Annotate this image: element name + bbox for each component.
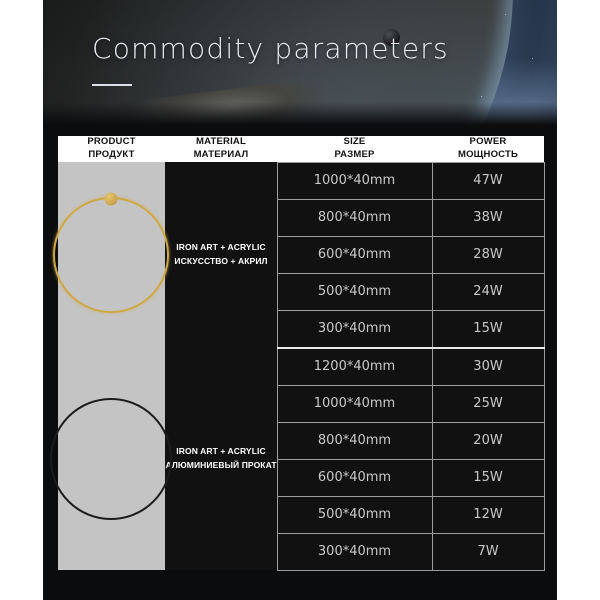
parameters-table: PRODUCT ПРОДУКТ MATERIAL МАТЕРИАЛ SIZE Р… [58,136,545,571]
product-image-black-ring [58,348,165,571]
hero-space-banner: Commodity parameters [43,0,557,128]
material-cell-1: IRON ART + ACRYLIC ИСКУССТВО + АКРИЛ [165,162,277,348]
power-cell: 30W [432,348,544,386]
table-row: IRON ART + ACRYLIC ИСКУССТВО + АКРИЛ 100… [58,162,544,199]
power-cell: 47W [432,162,544,199]
size-cell: 300*40mm [277,310,432,348]
size-cell: 1000*40mm [277,385,432,422]
power-cell: 7W [432,533,544,570]
star-icon [532,58,533,59]
size-cell: 800*40mm [277,199,432,236]
size-cell: 300*40mm [277,533,432,570]
material-cell-2: IRON ART + ACRYLIC АЛЮМИНИЕВЫЙ ПРОКАТ [165,348,277,571]
size-cell: 500*40mm [277,496,432,533]
title-underline [92,84,132,86]
header-power: POWER МОЩНОСТЬ [432,136,544,162]
header-material: MATERIAL МАТЕРИАЛ [165,136,277,162]
power-cell: 12W [432,496,544,533]
size-cell: 1000*40mm [277,162,432,199]
header-row: PRODUCT ПРОДУКТ MATERIAL МАТЕРИАЛ SIZE Р… [58,136,544,162]
black-ring-icon [50,398,172,520]
size-cell: 600*40mm [277,459,432,496]
table-header: PRODUCT ПРОДУКТ MATERIAL МАТЕРИАЛ SIZE Р… [58,136,544,162]
size-cell: 500*40mm [277,273,432,310]
table-body: IRON ART + ACRYLIC ИСКУССТВО + АКРИЛ 100… [58,162,544,570]
power-cell: 38W [432,199,544,236]
size-cell: 600*40mm [277,236,432,273]
ring-knob-icon [105,192,118,205]
power-cell: 28W [432,236,544,273]
page-title: Commodity parameters [92,32,449,65]
table-row: IRON ART + ACRYLIC АЛЮМИНИЕВЫЙ ПРОКАТ 12… [58,348,544,386]
header-size: SIZE РАЗМЕР [277,136,432,162]
product-parameters-page: Commodity parameters PRODUCT ПРОДУКТ MAT… [0,0,600,600]
product-image-gold-ring [58,162,165,348]
power-cell: 25W [432,385,544,422]
power-cell: 24W [432,273,544,310]
star-icon [481,96,482,97]
product-cell-gold [58,162,165,348]
size-cell: 800*40mm [277,422,432,459]
hero-bottom-fade [43,102,557,128]
size-cell: 1200*40mm [277,348,432,386]
gold-ring-icon [53,197,169,313]
power-cell: 20W [432,422,544,459]
header-product: PRODUCT ПРОДУКТ [58,136,165,162]
product-cell-black [58,348,165,571]
power-cell: 15W [432,310,544,348]
star-icon [505,14,506,15]
dark-content-panel: Commodity parameters PRODUCT ПРОДУКТ MAT… [43,0,557,600]
power-cell: 15W [432,459,544,496]
